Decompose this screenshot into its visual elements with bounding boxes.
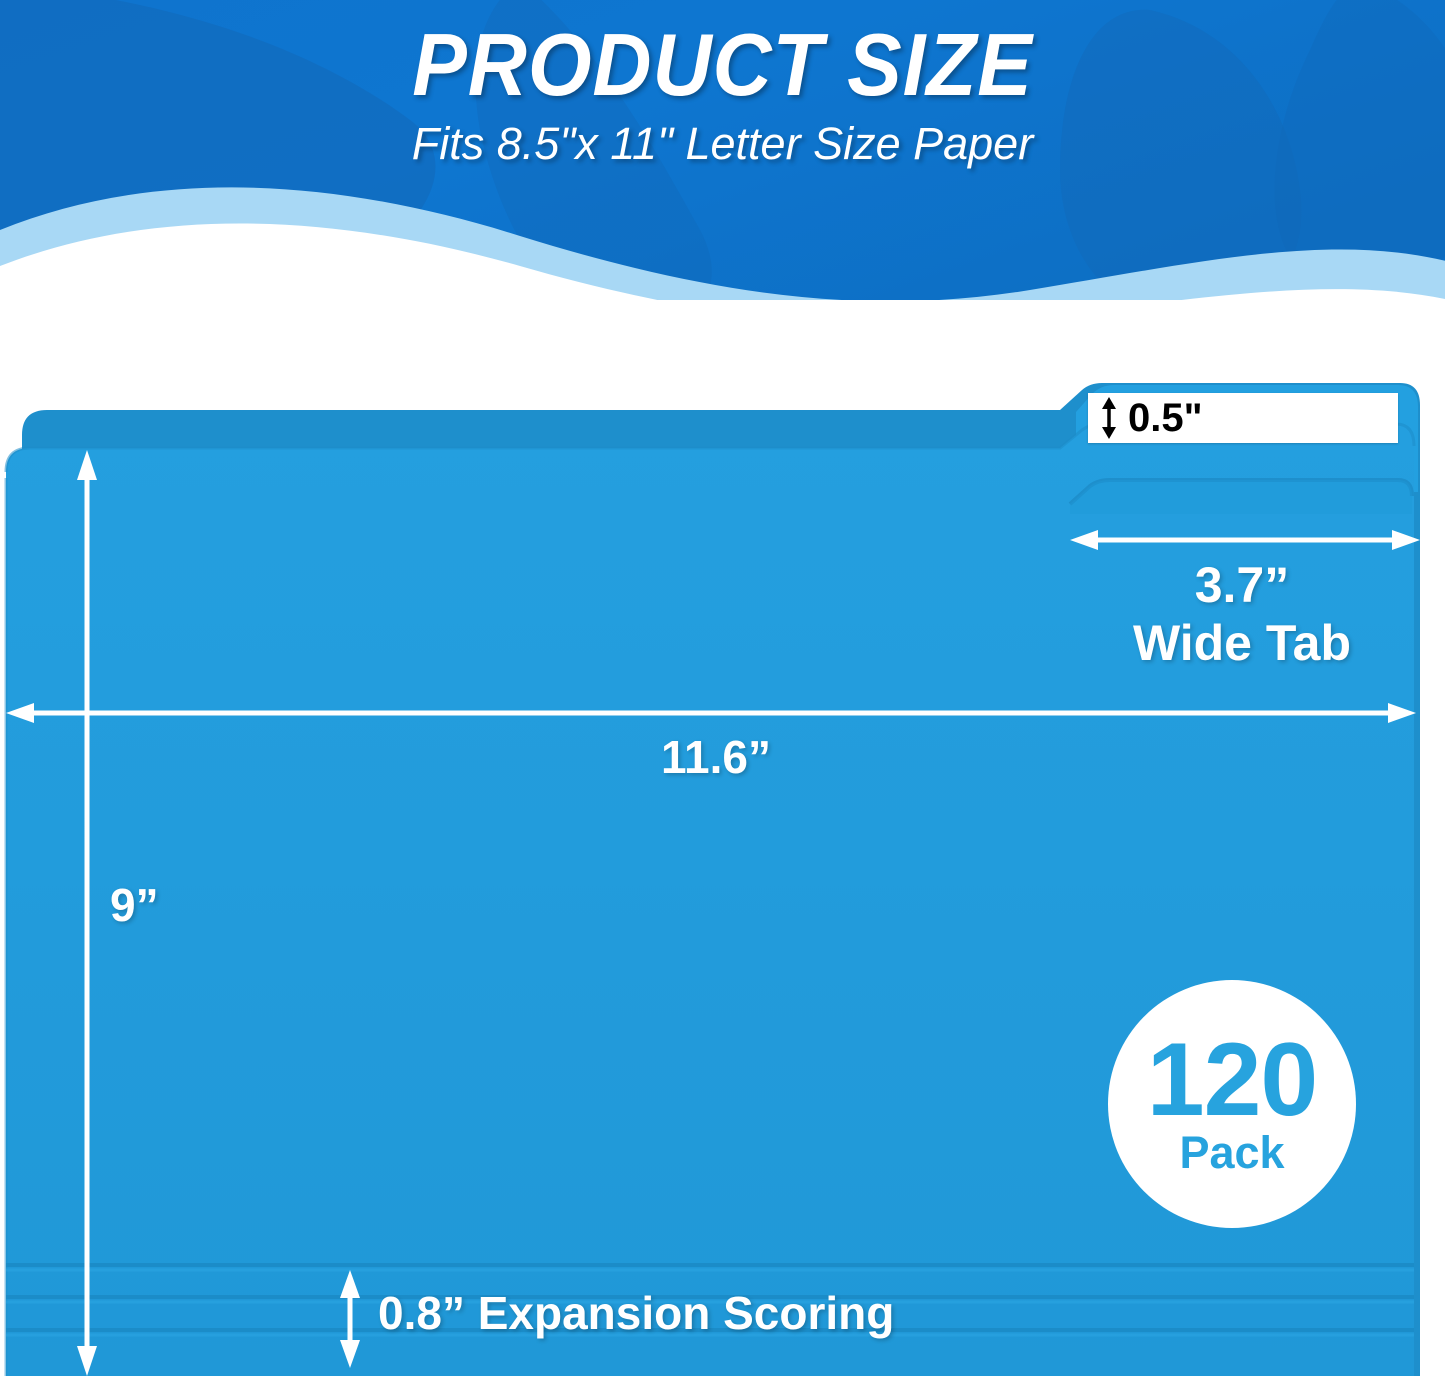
folder-height-label: 9” xyxy=(110,878,159,932)
pack-quantity-badge: 120 Pack xyxy=(1108,980,1356,1228)
folder-tab-crease-shade-icon xyxy=(1070,480,1412,514)
tab-width-value: 3.7” xyxy=(1195,557,1290,613)
page-subtitle: Fits 8.5"x 11" Letter Size Paper xyxy=(0,118,1445,170)
tab-width-caption: Wide Tab xyxy=(1133,615,1351,671)
expansion-scoring-label: 0.8” Expansion Scoring xyxy=(378,1286,894,1340)
pack-count: 120 xyxy=(1147,1033,1318,1129)
page-title: PRODUCT SIZE xyxy=(51,14,1395,116)
folder-width-label: 11.6” xyxy=(566,730,866,784)
tab-height-callout: 0.5" xyxy=(1088,393,1398,443)
tab-width-label: 3.7” Wide Tab xyxy=(1063,556,1421,672)
header-banner: PRODUCT SIZE Fits 8.5"x 11" Letter Size … xyxy=(0,0,1445,300)
pack-unit: Pack xyxy=(1179,1130,1284,1175)
tab-height-value: 0.5" xyxy=(1128,398,1203,438)
product-diagram: 0.5" 3.7” Wide Tab 11.6” 9” 0.8” Expansi… xyxy=(0,300,1445,1376)
double-arrow-vertical-icon xyxy=(1098,397,1120,439)
